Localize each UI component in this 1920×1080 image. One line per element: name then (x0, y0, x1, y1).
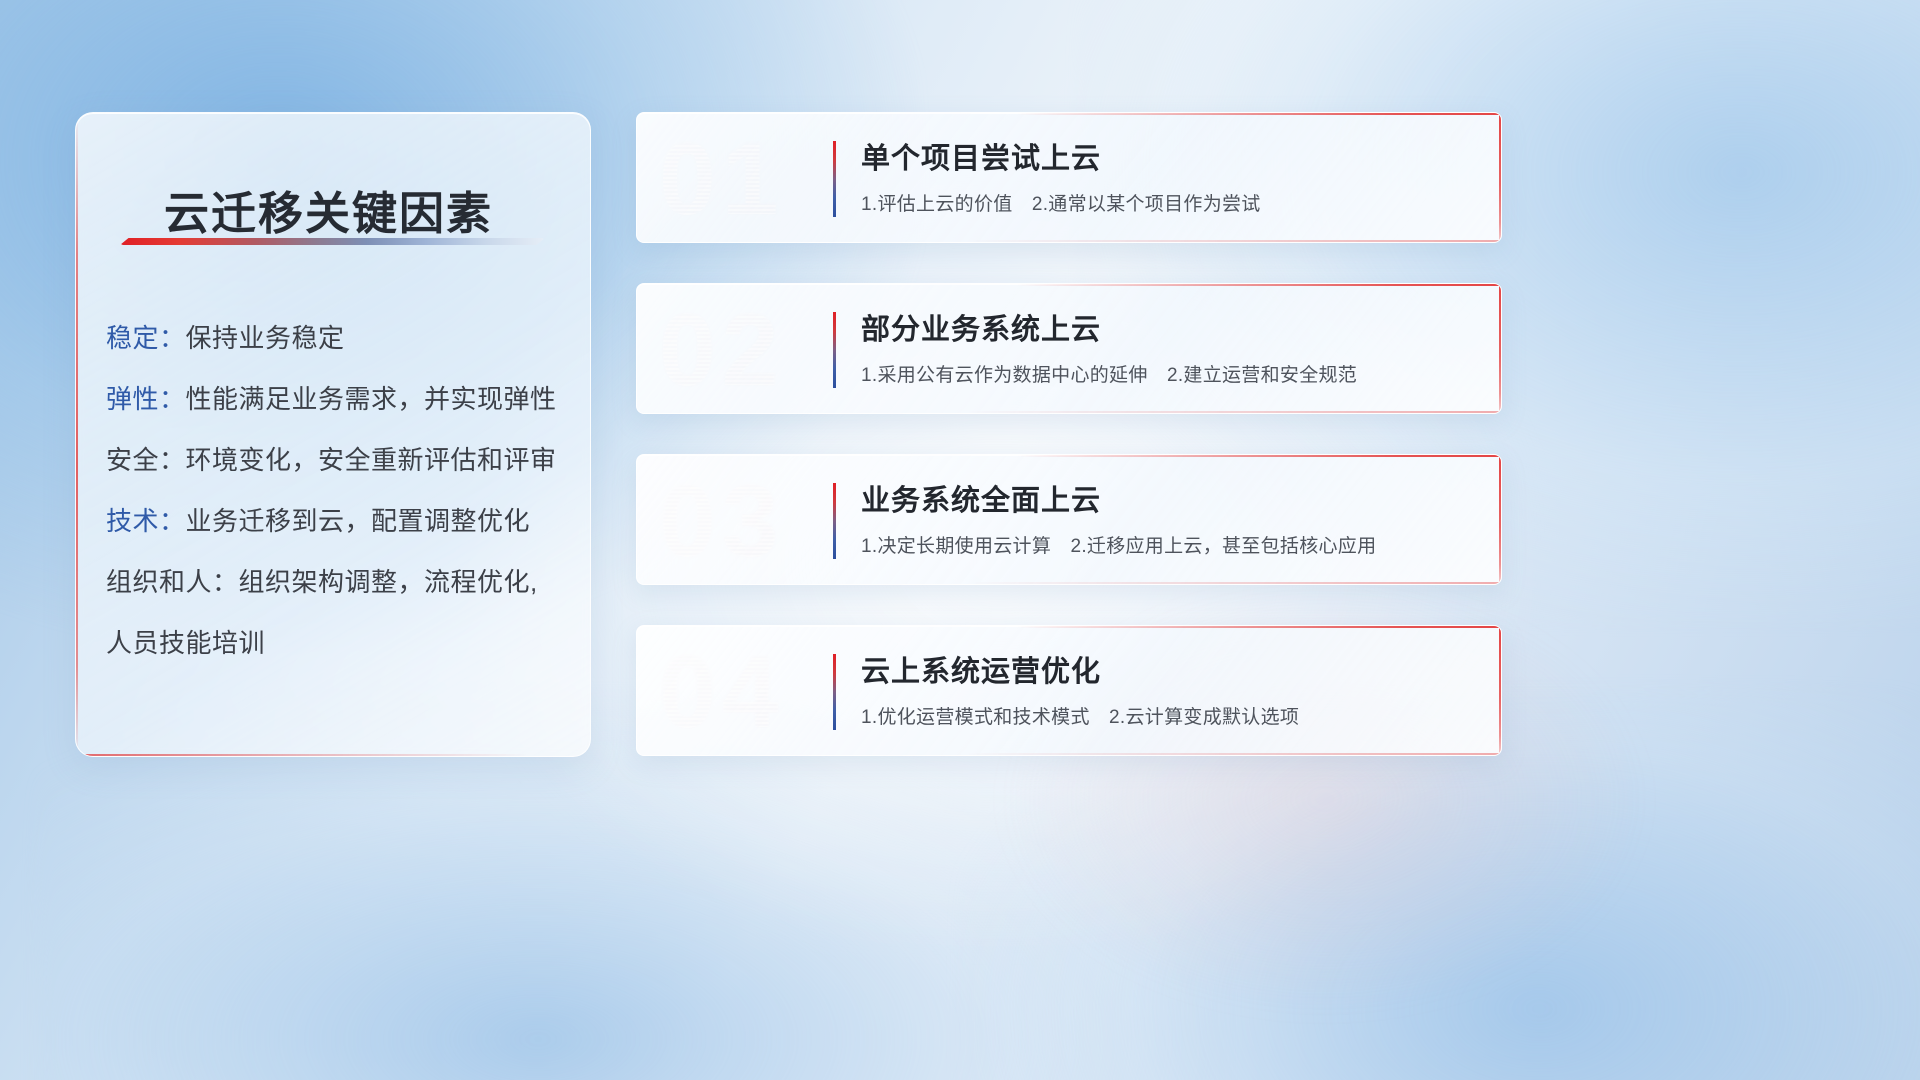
step-title: 业务系统全面上云 (861, 477, 1101, 519)
step-title: 单个项目尝试上云 (861, 135, 1101, 177)
card-top-red-edge (637, 113, 1501, 115)
list-item: 技术：业务迁移到云，配置调整优化 (106, 491, 566, 552)
list-item: 组织和人：组织架构调整，流程优化, (106, 552, 566, 613)
step-number: 01 (659, 119, 784, 239)
title-gradient-rule (120, 238, 545, 245)
card-bottom-red-edge (965, 411, 1501, 413)
step-title: 部分业务系统上云 (861, 306, 1101, 348)
panel-left-red-edge (76, 113, 78, 756)
step-divider-gradient (833, 654, 836, 730)
list-item-label: 技术： (106, 506, 186, 536)
step-number: 03 (659, 461, 784, 581)
list-item-label: 弹性： (106, 384, 186, 414)
card-right-red-edge (1499, 113, 1501, 242)
step-description: 1.采用公有云作为数据中心的延伸 2.建立运营和安全规范 (861, 360, 1357, 387)
card-bottom-red-edge (965, 753, 1501, 755)
list-item-label: 安全： (106, 445, 186, 475)
step-card-03[interactable]: 03 03 业务系统全面上云 1.决定长期使用云计算 2.迁移应用上云，甚至包括… (636, 454, 1502, 585)
step-description: 1.决定长期使用云计算 2.迁移应用上云，甚至包括核心应用 (861, 531, 1376, 558)
list-item: 稳定：保持业务稳定 (106, 308, 566, 369)
panel-bottom-red-edge (76, 754, 590, 756)
step-number: 04 (659, 632, 784, 752)
step-card-04[interactable]: 04 04 云上系统运营优化 1.优化运营模式和技术模式 2.云计算变成默认选项 (636, 625, 1502, 756)
migration-steps-list: 01 01 单个项目尝试上云 1.评估上云的价值 2.通常以某个项目作为尝试 0… (636, 112, 1502, 796)
step-divider-gradient (833, 483, 836, 559)
list-item: 弹性：性能满足业务需求，并实现弹性 (106, 369, 566, 430)
card-right-red-edge (1499, 455, 1501, 584)
list-item-text: 保持业务稳定 (186, 323, 345, 353)
step-number: 02 (659, 290, 784, 410)
card-right-red-edge (1499, 626, 1501, 755)
card-top-red-edge (637, 455, 1501, 457)
card-top-red-edge (637, 626, 1501, 628)
list-item-label: 组织和人： (106, 567, 239, 597)
list-item-text: 人员技能培训 (106, 628, 265, 658)
card-bottom-red-edge (965, 582, 1501, 584)
step-divider-gradient (833, 312, 836, 388)
key-factors-list: 稳定：保持业务稳定 弹性：性能满足业务需求，并实现弹性 安全：环境变化，安全重新… (106, 308, 566, 674)
step-divider-gradient (833, 141, 836, 217)
step-card-02[interactable]: 02 02 部分业务系统上云 1.采用公有云作为数据中心的延伸 2.建立运营和安… (636, 283, 1502, 414)
list-item-text: 性能满足业务需求，并实现弹性 (186, 384, 557, 414)
list-item-text: 组织架构调整，流程优化, (239, 567, 538, 597)
step-title: 云上系统运营优化 (861, 648, 1101, 690)
list-item: 安全：环境变化，安全重新评估和评审 (106, 430, 566, 491)
step-description: 1.评估上云的价值 2.通常以某个项目作为尝试 (861, 189, 1261, 216)
page-title: 云迁移关键因素 (164, 177, 493, 242)
step-card-01[interactable]: 01 01 单个项目尝试上云 1.评估上云的价值 2.通常以某个项目作为尝试 (636, 112, 1502, 243)
card-right-red-edge (1499, 284, 1501, 413)
card-bottom-red-edge (965, 240, 1501, 242)
list-item-text: 业务迁移到云，配置调整优化 (186, 506, 531, 536)
card-top-red-edge (637, 284, 1501, 286)
list-item-label: 稳定： (106, 323, 186, 353)
list-item-text: 环境变化，安全重新评估和评审 (186, 445, 557, 475)
list-item: 人员技能培训 (106, 613, 566, 674)
step-description: 1.优化运营模式和技术模式 2.云计算变成默认选项 (861, 702, 1299, 729)
slide-stage: 云迁移关键因素 稳定：保持业务稳定 弹性：性能满足业务需求，并实现弹性 安全：环… (0, 0, 1920, 1080)
key-factors-panel: 云迁移关键因素 稳定：保持业务稳定 弹性：性能满足业务需求，并实现弹性 安全：环… (75, 112, 591, 757)
